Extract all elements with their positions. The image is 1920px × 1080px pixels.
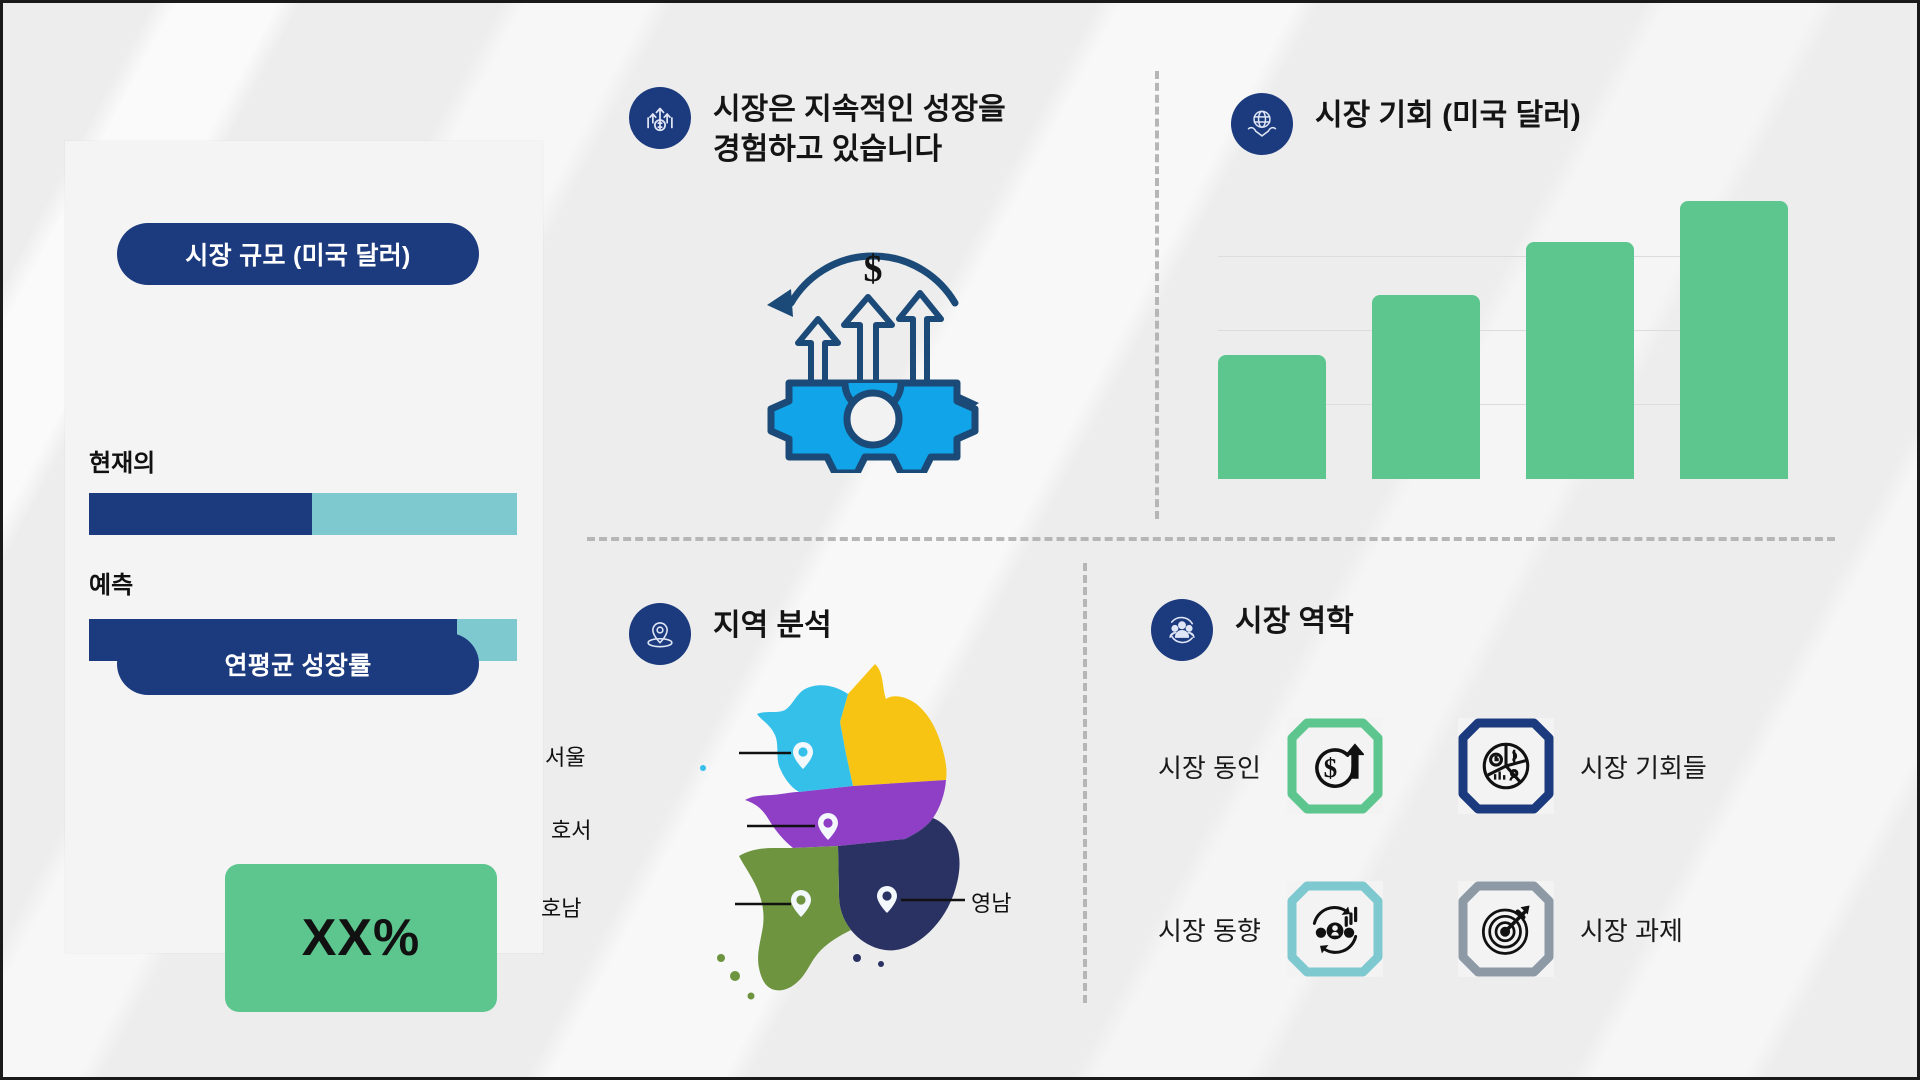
dynamics-item-opportunities[interactable]: 시장 기회들: [1458, 718, 1707, 814]
chart-bar: [1680, 201, 1788, 479]
dynamics-label-opportunities: 시장 기회들: [1580, 748, 1707, 785]
dynamics-label-drivers: 시장 동인: [1158, 748, 1261, 785]
korea-region-map: 서울 호서 호남 영남: [643, 658, 1063, 1003]
map-label-honam: 호남: [541, 891, 581, 923]
cagr-value-box: XX%: [225, 864, 497, 1012]
people-cycle-icon: [1151, 599, 1213, 661]
region-section-header: 지역 분석: [629, 603, 832, 665]
pie-chart-icon: [1458, 718, 1554, 814]
dynamics-item-drivers[interactable]: 시장 동인 $: [1158, 718, 1383, 814]
divider-vertical-bottom: [1083, 563, 1087, 1003]
dynamics-item-challenges[interactable]: 시장 과제: [1458, 881, 1683, 977]
opportunity-bar-chart: [1218, 183, 1788, 479]
divider-horizontal-middle: [587, 537, 1835, 541]
growth-section-title: 시장은 지속적인 성장을 경험하고 있습니다: [713, 87, 1029, 170]
region-section-title: 지역 분석: [713, 603, 832, 646]
globe-in-hands-icon: [1231, 93, 1293, 155]
gears-growth-icon: [1287, 881, 1383, 977]
target-dart-icon: [1458, 881, 1554, 977]
location-pin-icon: [629, 603, 691, 665]
chart-bar: [1218, 355, 1326, 479]
growth-arrows-gear-icon: [629, 87, 691, 149]
opportunity-section-header: 시장 기회 (미국 달러): [1231, 93, 1581, 155]
map-label-seoul: 서울: [545, 740, 585, 772]
market-size-card: 시장 규모 (미국 달러) 현재의 예측 연평균 성장률 XX%: [65, 141, 543, 953]
market-size-pill: 시장 규모 (미국 달러): [117, 223, 479, 285]
divider-vertical-top: [1155, 71, 1159, 519]
dynamics-label-challenges: 시장 과제: [1580, 911, 1683, 948]
map-label-yeongnam: 영남: [971, 886, 1011, 918]
dynamics-item-trends[interactable]: 시장 동향: [1158, 881, 1383, 977]
current-label: 현재의: [89, 443, 155, 478]
current-bar-fill: [89, 493, 312, 535]
gear-upward-arrows-dollar-cycle-icon: $: [733, 233, 1013, 473]
cagr-value: XX%: [302, 908, 421, 968]
current-bar-track: [89, 493, 517, 535]
cagr-pill: 연평균 성장률: [117, 633, 479, 695]
chart-bar: [1372, 295, 1480, 479]
dynamics-section-header: 시장 역학: [1151, 599, 1354, 661]
map-label-hoseo: 호서: [551, 813, 591, 845]
dollar-arrow-up-icon: $: [1287, 718, 1383, 814]
dynamics-label-trends: 시장 동향: [1158, 911, 1261, 948]
svg-text:$: $: [864, 248, 883, 290]
chart-bar: [1526, 242, 1634, 479]
infographic-canvas: 시장 규모 (미국 달러) 현재의 예측 연평균 성장률 XX%: [0, 0, 1920, 1080]
dynamics-section-title: 시장 역학: [1235, 599, 1354, 642]
forecast-label: 예측: [89, 565, 133, 600]
growth-section-header: 시장은 지속적인 성장을 경험하고 있습니다: [629, 87, 1029, 170]
opportunity-section-title: 시장 기회 (미국 달러): [1315, 93, 1581, 136]
